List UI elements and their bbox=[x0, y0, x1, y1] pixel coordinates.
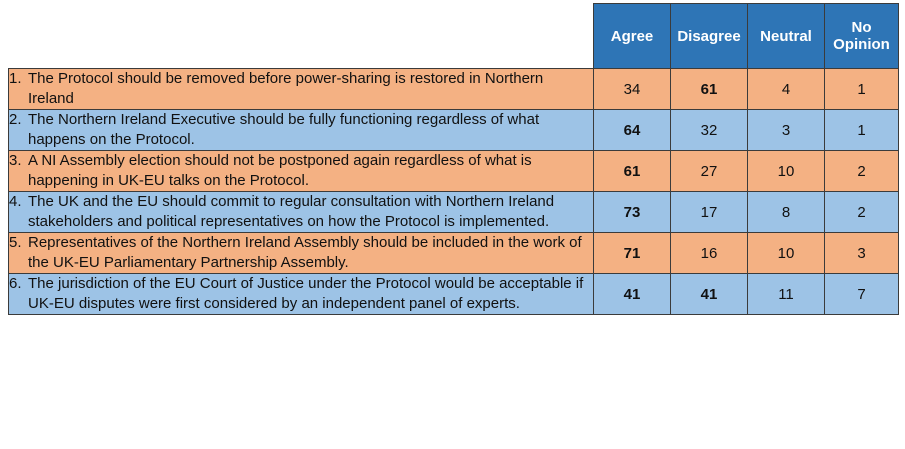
table-row: 2.The Northern Ireland Executive should … bbox=[9, 110, 899, 151]
statement-number: 3. bbox=[9, 151, 28, 171]
poll-results-table-container: Agree Disagree Neutral No Opinion 1.The … bbox=[8, 3, 898, 444]
statement-inner: 6.The jurisdiction of the EU Court of Ju… bbox=[9, 274, 593, 314]
value-cell-disagree: 41 bbox=[671, 274, 748, 315]
value-cell-neutral: 8 bbox=[748, 192, 825, 233]
value-cell-neutral: 10 bbox=[748, 233, 825, 274]
header-cell-disagree: Disagree bbox=[671, 4, 748, 69]
statement-number: 4. bbox=[9, 192, 28, 212]
statement-cell: 6.The jurisdiction of the EU Court of Ju… bbox=[9, 274, 594, 315]
header-cell-no-opinion: No Opinion bbox=[825, 4, 899, 69]
statement-cell: 3.A NI Assembly election should not be p… bbox=[9, 151, 594, 192]
table-header: Agree Disagree Neutral No Opinion bbox=[9, 4, 899, 69]
statement-cell: 1.The Protocol should be removed before … bbox=[9, 69, 594, 110]
value-cell-neutral: 4 bbox=[748, 69, 825, 110]
value-cell-neutral: 10 bbox=[748, 151, 825, 192]
statement-text: The UK and the EU should commit to regul… bbox=[28, 192, 593, 232]
value-cell-no-opinion: 3 bbox=[825, 233, 899, 274]
value-cell-agree: 64 bbox=[594, 110, 671, 151]
value-cell-no-opinion: 2 bbox=[825, 151, 899, 192]
value-cell-agree: 71 bbox=[594, 233, 671, 274]
statement-text: The Protocol should be removed before po… bbox=[28, 69, 593, 109]
statement-number: 2. bbox=[9, 110, 28, 130]
value-cell-agree: 61 bbox=[594, 151, 671, 192]
statement-cell: 2.The Northern Ireland Executive should … bbox=[9, 110, 594, 151]
value-cell-disagree: 61 bbox=[671, 69, 748, 110]
value-cell-disagree: 16 bbox=[671, 233, 748, 274]
statement-inner: 4.The UK and the EU should commit to reg… bbox=[9, 192, 593, 232]
header-cell-neutral: Neutral bbox=[748, 4, 825, 69]
statement-inner: 3.A NI Assembly election should not be p… bbox=[9, 151, 593, 191]
table-row: 4.The UK and the EU should commit to reg… bbox=[9, 192, 899, 233]
table-row: 1.The Protocol should be removed before … bbox=[9, 69, 899, 110]
value-cell-disagree: 27 bbox=[671, 151, 748, 192]
statement-inner: 5.Representatives of the Northern Irelan… bbox=[9, 233, 593, 273]
value-cell-agree: 34 bbox=[594, 69, 671, 110]
value-cell-no-opinion: 2 bbox=[825, 192, 899, 233]
value-cell-agree: 41 bbox=[594, 274, 671, 315]
statement-text: The Northern Ireland Executive should be… bbox=[28, 110, 593, 150]
value-cell-disagree: 32 bbox=[671, 110, 748, 151]
header-row: Agree Disagree Neutral No Opinion bbox=[9, 4, 899, 69]
value-cell-neutral: 3 bbox=[748, 110, 825, 151]
statement-text: The jurisdiction of the EU Court of Just… bbox=[28, 274, 593, 314]
header-cell-statement bbox=[9, 4, 594, 69]
value-cell-agree: 73 bbox=[594, 192, 671, 233]
value-cell-no-opinion: 7 bbox=[825, 274, 899, 315]
statement-text: A NI Assembly election should not be pos… bbox=[28, 151, 593, 191]
poll-results-table: Agree Disagree Neutral No Opinion 1.The … bbox=[8, 3, 899, 315]
statement-inner: 1.The Protocol should be removed before … bbox=[9, 69, 593, 109]
statement-inner: 2.The Northern Ireland Executive should … bbox=[9, 110, 593, 150]
value-cell-no-opinion: 1 bbox=[825, 110, 899, 151]
statement-number: 5. bbox=[9, 233, 28, 253]
statement-number: 6. bbox=[9, 274, 28, 294]
table-row: 3.A NI Assembly election should not be p… bbox=[9, 151, 899, 192]
table-body: 1.The Protocol should be removed before … bbox=[9, 69, 899, 315]
table-row: 5.Representatives of the Northern Irelan… bbox=[9, 233, 899, 274]
value-cell-neutral: 11 bbox=[748, 274, 825, 315]
statement-text: Representatives of the Northern Ireland … bbox=[28, 233, 593, 273]
statement-number: 1. bbox=[9, 69, 28, 89]
value-cell-disagree: 17 bbox=[671, 192, 748, 233]
statement-cell: 4.The UK and the EU should commit to reg… bbox=[9, 192, 594, 233]
table-row: 6.The jurisdiction of the EU Court of Ju… bbox=[9, 274, 899, 315]
statement-cell: 5.Representatives of the Northern Irelan… bbox=[9, 233, 594, 274]
value-cell-no-opinion: 1 bbox=[825, 69, 899, 110]
header-cell-agree: Agree bbox=[594, 4, 671, 69]
